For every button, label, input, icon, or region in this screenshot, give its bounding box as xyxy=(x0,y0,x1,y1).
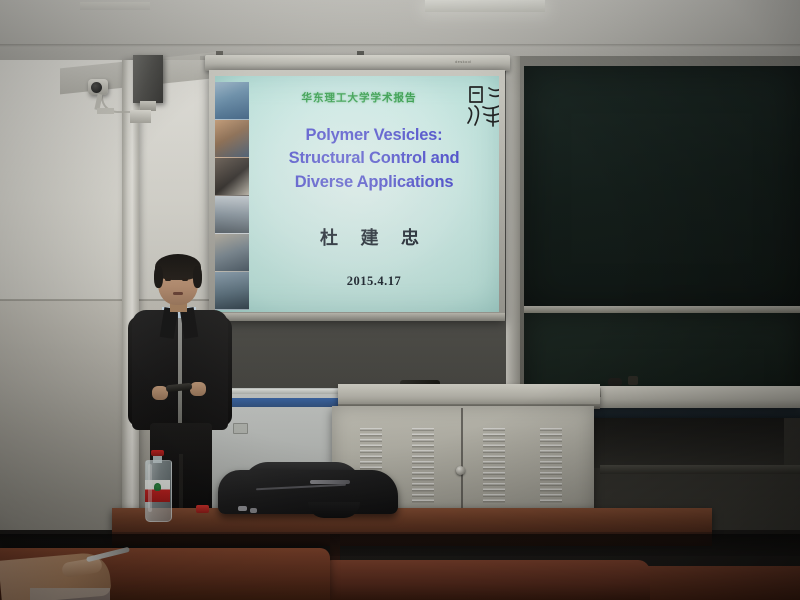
bottle-tree-logo-icon xyxy=(154,483,161,491)
camera-lens-icon xyxy=(91,82,102,93)
cabinet-vent-2 xyxy=(412,428,434,504)
ceiling-seam xyxy=(0,44,800,47)
laptop-bag xyxy=(218,462,398,514)
projected-slide: 华东理工大学学术报告 Polymer Vesicles: Structural xyxy=(215,76,499,312)
audience-desk-center xyxy=(320,560,650,600)
slide-photo-4 xyxy=(215,196,249,234)
lecture-hall-photo: deskool 华东理工大学学术报告 xyxy=(0,0,800,600)
podium-top-surface xyxy=(338,384,600,406)
ceiling-light-secondary xyxy=(80,2,150,10)
slide-title-line-1: Polymer Vesicles: xyxy=(253,124,495,147)
ledge-object-2 xyxy=(628,376,638,385)
loose-bottle-cap xyxy=(196,505,209,513)
slide-photo-1 xyxy=(215,82,249,120)
slide-title: Polymer Vesicles: Structural Control and… xyxy=(253,124,495,194)
slide-photo-2 xyxy=(215,120,249,158)
bag-zipper-pull-2 xyxy=(250,508,257,513)
cabinet-vent-3 xyxy=(483,428,505,504)
presenter-mouth xyxy=(173,292,183,295)
presenter-eye-right xyxy=(182,278,188,281)
slide-header-text: 华东理工大学学术报告 xyxy=(259,90,459,105)
wall-speaker xyxy=(133,55,163,103)
slide-date: 2015.4.17 xyxy=(253,274,495,289)
blackboard-upper-panel xyxy=(524,66,800,311)
water-bottle xyxy=(145,450,170,520)
slide-photo-3 xyxy=(215,158,249,196)
slide-title-line-3: Diverse Applications xyxy=(253,171,495,194)
presenter-hand-right xyxy=(190,382,206,396)
bag-strap xyxy=(308,502,360,518)
bag-zipper-pull-1 xyxy=(238,506,247,511)
cabinet-vent-4 xyxy=(540,428,562,504)
screen-weight-bar xyxy=(209,313,505,321)
ceiling-light-fixture xyxy=(425,0,545,12)
blackboard-left-post xyxy=(506,56,520,426)
presenter-leg-separation xyxy=(179,454,183,515)
chalk-rail xyxy=(594,408,800,418)
bottle-cap xyxy=(151,450,164,456)
bottle-highlight xyxy=(148,464,152,512)
right-ledge xyxy=(594,386,800,408)
lower-rail-strip xyxy=(600,465,800,474)
blackboard-divider xyxy=(524,306,800,313)
cabinet-door-seam xyxy=(461,408,463,520)
presenter-hair-left xyxy=(154,266,163,288)
cabinet-lock[interactable] xyxy=(456,466,465,475)
bag-zipper-tape xyxy=(310,480,350,484)
slide-speaker-name: 杜 建 忠 xyxy=(253,224,495,250)
slide-title-line-2: Structural Control and xyxy=(253,147,495,170)
audience-paper xyxy=(30,588,110,600)
presenter-eye-left xyxy=(165,278,171,281)
camera-junction-box xyxy=(130,110,151,123)
ledge-shadow xyxy=(594,418,784,468)
presenter-hair-right xyxy=(193,266,202,288)
camera-base-bracket xyxy=(97,108,114,114)
ledge-object-1 xyxy=(608,378,622,386)
screen-brand-label: deskool xyxy=(455,59,495,65)
tongji-calligraphy-logo xyxy=(463,82,499,128)
